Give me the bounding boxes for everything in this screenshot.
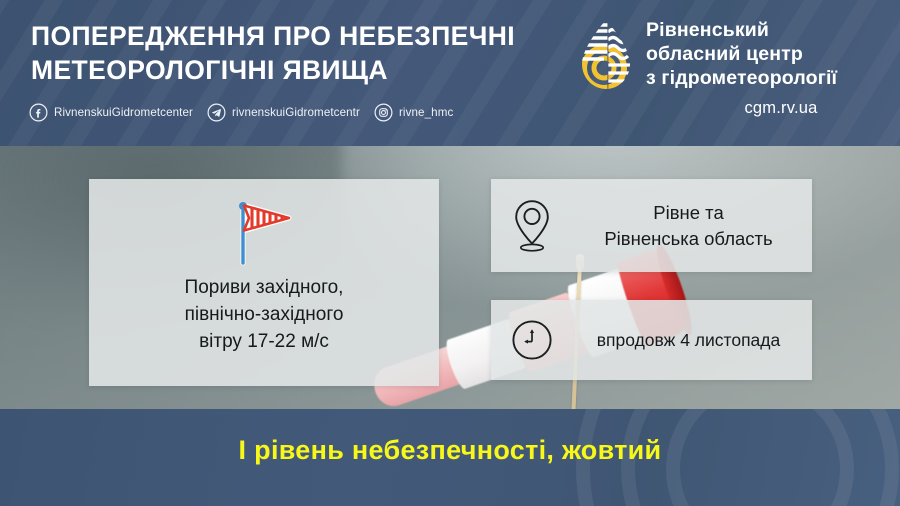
- danger-level-text: I рівень небезпечності, жовтий: [0, 435, 900, 466]
- location-text-line-1: Рівне та: [573, 200, 804, 226]
- wind-warning-card: Пориви західного, північно-західного віт…: [89, 179, 439, 386]
- org-name-line-3: з гідрометеорології: [646, 66, 837, 90]
- wind-text-line-3: вітру 17-22 м/с: [99, 329, 429, 356]
- wind-text-line-1: Пориви західного,: [99, 275, 429, 302]
- instagram-handle: rivne_hmc: [399, 106, 453, 119]
- page-title-line-1: ПОПЕРЕДЖЕННЯ ПРО НЕБЕЗПЕЧНІ: [31, 21, 515, 51]
- wind-warning-icon-container: [89, 195, 439, 269]
- wind-warning-text: Пориви західного, північно-західного віт…: [99, 275, 429, 356]
- time-card: впродовж 4 листопада: [491, 300, 812, 380]
- footer-band: I рівень небезпечності, жовтий: [0, 409, 900, 506]
- org-name-line-1: Рівненський: [646, 18, 837, 42]
- map-pin-icon: [512, 199, 552, 253]
- organization-name: Рівненський обласний центр з гідрометеор…: [646, 18, 837, 91]
- social-link-facebook[interactable]: RivnenskuiGidrometcenter: [29, 103, 193, 122]
- header-band: ПОПЕРЕДЖЕННЯ ПРО НЕБЕЗПЕЧНІ МЕТЕОРОЛОГІЧ…: [0, 0, 900, 146]
- wind-warning-pennant-icon: [227, 195, 301, 269]
- page-title: ПОПЕРЕДЖЕННЯ ПРО НЕБЕЗПЕЧНІ МЕТЕОРОЛОГІЧ…: [31, 20, 571, 88]
- location-card: Рівне та Рівненська область: [491, 179, 812, 272]
- social-link-instagram[interactable]: rivne_hmc: [374, 103, 453, 122]
- facebook-handle: RivnenskuiGidrometcenter: [54, 106, 193, 119]
- telegram-icon: [207, 103, 226, 122]
- page-title-line-2: МЕТЕОРОЛОГІЧНІ ЯВИЩА: [31, 54, 571, 88]
- telegram-handle: rivnenskuiGidrometcentr: [232, 106, 360, 119]
- social-link-telegram[interactable]: rivnenskuiGidrometcentr: [207, 103, 360, 122]
- location-text-line-2: Рівненська область: [573, 226, 804, 252]
- water-drop-logo-icon: [578, 18, 634, 92]
- location-icon-container: [491, 199, 573, 253]
- organization-logo: Рівненський обласний центр з гідрометеор…: [578, 18, 837, 92]
- weather-warning-infographic: ПОПЕРЕДЖЕННЯ ПРО НЕБЕЗПЕЧНІ МЕТЕОРОЛОГІЧ…: [0, 0, 900, 506]
- facebook-icon: [29, 103, 48, 122]
- clock-icon-container: [491, 319, 573, 361]
- clock-icon: [511, 319, 553, 361]
- wind-text-line-2: північно-західного: [99, 302, 429, 329]
- website-url[interactable]: cgm.rv.ua: [666, 99, 896, 118]
- org-name-line-2: обласний центр: [646, 42, 837, 66]
- social-links: RivnenskuiGidrometcenter rivnenskuiGidro…: [29, 103, 453, 122]
- location-text: Рівне та Рівненська область: [573, 200, 812, 251]
- time-text: впродовж 4 листопада: [573, 329, 812, 352]
- instagram-icon: [374, 103, 393, 122]
